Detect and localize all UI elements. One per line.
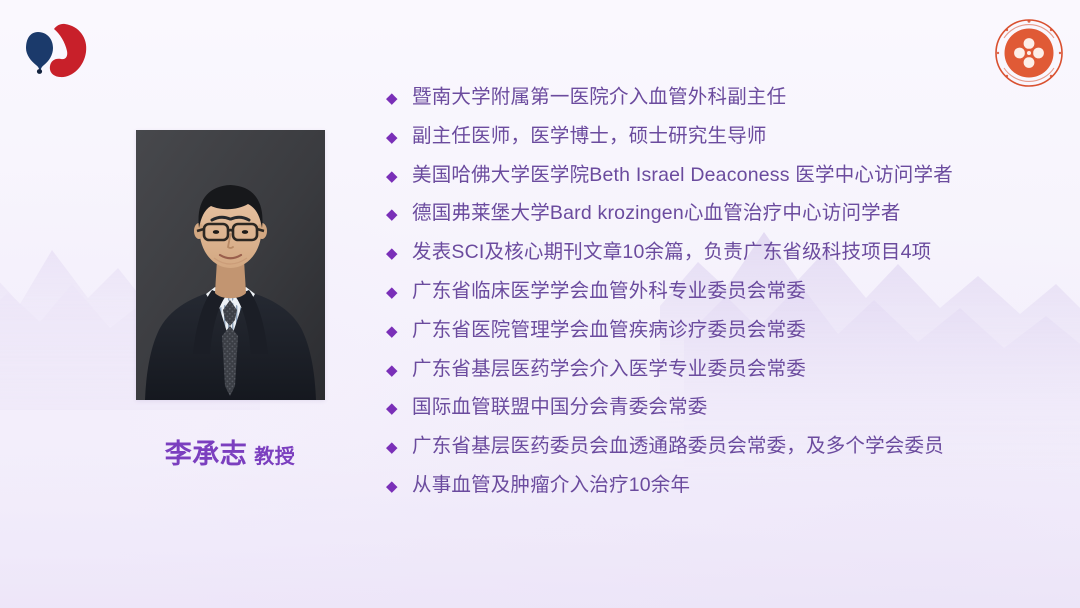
speaker-title-text: 教授 — [254, 446, 295, 468]
list-item: ◆ 广东省基层医药学会介入医学专业委员会常委 — [386, 357, 1046, 396]
diamond-bullet-icon: ◆ — [386, 324, 412, 339]
list-item: ◆ 从事血管及肿瘤介入治疗10余年 — [386, 473, 1046, 512]
speaker-name-label: 李承志教授 — [120, 432, 340, 471]
list-item-text: 暨南大学附属第一医院介入血管外科副主任 — [412, 85, 1046, 109]
list-item: ◆ 副主任医师，医学博士，硕士研究生导师 — [386, 124, 1046, 163]
list-item-text: 德国弗莱堡大学Bard krozingen心血管治疗中心访问学者 — [412, 201, 1046, 225]
list-item-text: 国际血管联盟中国分会青委会常委 — [412, 395, 1046, 419]
list-item-text: 广东省临床医学学会血管外科专业委员会常委 — [412, 279, 1046, 303]
diamond-bullet-icon: ◆ — [386, 207, 412, 222]
list-item: ◆ 美国哈佛大学医学院Beth Israel Deaconess 医学中心访问学… — [386, 163, 1046, 202]
speaker-photo — [136, 130, 325, 400]
diamond-bullet-icon: ◆ — [386, 440, 412, 455]
list-item: ◆ 广东省基层医药委员会血透通路委员会常委，及多个学会委员 — [386, 434, 1046, 473]
credentials-list: ◆ 暨南大学附属第一医院介入血管外科副主任 ◆ 副主任医师，医学博士，硕士研究生… — [386, 85, 1046, 512]
diamond-bullet-icon: ◆ — [386, 169, 412, 184]
circular-seal-emblem-icon — [992, 16, 1066, 90]
diamond-bullet-icon: ◆ — [386, 246, 412, 261]
list-item-text: 广东省基层医药委员会血透通路委员会常委，及多个学会委员 — [412, 434, 1046, 458]
list-item: ◆ 暨南大学附属第一医院介入血管外科副主任 — [386, 85, 1046, 124]
list-item-text: 从事血管及肿瘤介入治疗10余年 — [412, 473, 1046, 497]
diamond-bullet-icon: ◆ — [386, 401, 412, 416]
list-item: ◆ 广东省医院管理学会血管疾病诊疗委员会常委 — [386, 318, 1046, 357]
speaker-name-text: 李承志 — [165, 439, 248, 469]
list-item-text: 广东省基层医药学会介入医学专业委员会常委 — [412, 357, 1046, 381]
list-item: ◆ 广东省临床医学学会血管外科专业委员会常委 — [386, 279, 1046, 318]
diamond-bullet-icon: ◆ — [386, 285, 412, 300]
speaker-portrait-photo-icon — [136, 130, 325, 400]
diamond-bullet-icon: ◆ — [386, 479, 412, 494]
list-item: ◆ 德国弗莱堡大学Bard krozingen心血管治疗中心访问学者 — [386, 201, 1046, 240]
list-item-text: 美国哈佛大学医学院Beth Israel Deaconess 医学中心访问学者 — [412, 163, 1046, 187]
list-item-text: 广东省医院管理学会血管疾病诊疗委员会常委 — [412, 318, 1046, 342]
slide-root: 李承志教授 ◆ 暨南大学附属第一医院介入血管外科副主任 ◆ 副主任医师，医学博士… — [0, 0, 1080, 608]
list-item: ◆ 国际血管联盟中国分会青委会常委 — [386, 395, 1046, 434]
droplet-swoosh-logo-icon — [18, 20, 90, 82]
list-item-text: 副主任医师，医学博士，硕士研究生导师 — [412, 124, 1046, 148]
diamond-bullet-icon: ◆ — [386, 363, 412, 378]
list-item: ◆ 发表SCI及核心期刊文章10余篇，负责广东省级科技项目4项 — [386, 240, 1046, 279]
list-item-text: 发表SCI及核心期刊文章10余篇，负责广东省级科技项目4项 — [412, 240, 1046, 264]
diamond-bullet-icon: ◆ — [386, 91, 412, 106]
diamond-bullet-icon: ◆ — [386, 130, 412, 145]
